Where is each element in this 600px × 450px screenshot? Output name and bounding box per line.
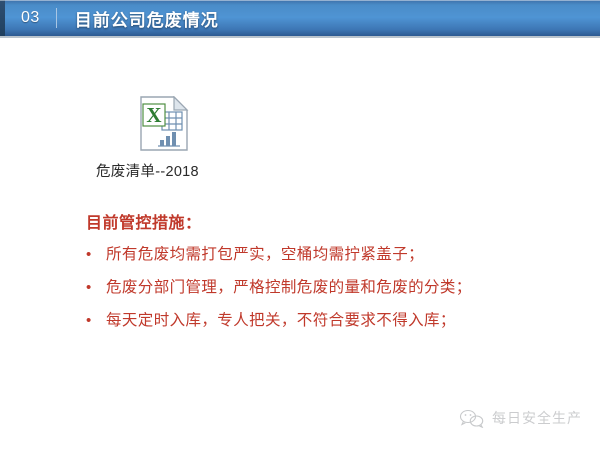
slide-body: X 危废清单--2018 目前管控措施： • 所有危废均需打包严实，空桶均需拧紧… (0, 38, 600, 450)
bullet-dot-icon: • (86, 311, 106, 331)
measures-bullet-list: • 所有危废均需打包严实，空桶均需拧紧盖子； • 危废分部门管理，严格控制危废的… (86, 245, 566, 331)
list-item-label: 所有危废均需打包严实，空桶均需拧紧盖子； (106, 245, 424, 265)
list-item: • 所有危废均需打包严实，空桶均需拧紧盖子； (86, 245, 566, 265)
excel-file-icon[interactable]: X (138, 96, 190, 152)
watermark-label: 每日安全生产 (492, 408, 582, 428)
bullet-dot-icon: • (86, 278, 106, 298)
svg-text:X: X (146, 103, 161, 127)
section-number: 03 (21, 9, 40, 27)
embedded-file-object[interactable]: X 危废清单--2018 (96, 96, 266, 181)
page-title: 目前公司危废情况 (75, 6, 219, 31)
list-item: • 每天定时入库，专人把关，不符合要求不得入库； (86, 311, 566, 331)
list-item-label: 每天定时入库，专人把关，不符合要求不得入库； (106, 311, 456, 331)
measures-heading: 目前管控措施： (86, 209, 566, 233)
list-item: • 危废分部门管理，严格控制危废的量和危废的分类； (86, 278, 566, 298)
bullet-dot-icon: • (86, 245, 106, 265)
watermark: 每日安全生产 (459, 408, 582, 428)
control-measures-block: 目前管控措施： • 所有危废均需打包严实，空桶均需拧紧盖子； • 危废分部门管理… (86, 209, 566, 344)
header-divider (56, 8, 57, 28)
slide-header-bar: 03 目前公司危废情况 (0, 0, 600, 38)
wechat-icon (459, 408, 485, 428)
list-item-label: 危废分部门管理，严格控制危废的量和危废的分类； (106, 278, 472, 298)
file-caption: 危废清单--2018 (96, 160, 266, 181)
